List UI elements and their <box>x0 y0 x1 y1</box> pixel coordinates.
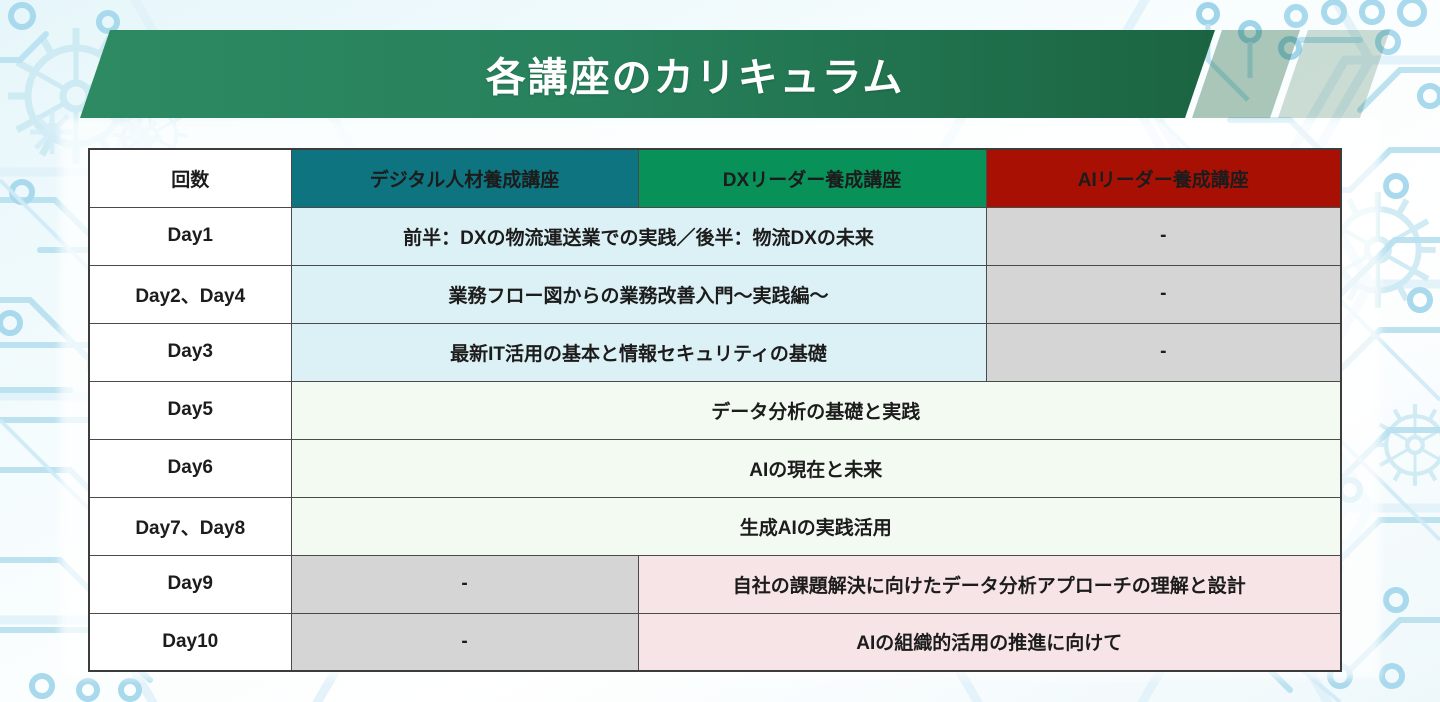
column-header-day: 回数 <box>89 149 291 207</box>
cell-course-content: 最新IT活用の基本と情報セキュリティの基礎 <box>291 323 986 381</box>
cell-not-applicable: - <box>291 613 638 671</box>
cell-not-applicable: - <box>986 265 1341 323</box>
cell-course-content: 業務フロー図からの業務改善入門〜実践編〜 <box>291 265 986 323</box>
row-day-label: Day1 <box>89 207 291 265</box>
table-row: Day3最新IT活用の基本と情報セキュリティの基礎- <box>89 323 1341 381</box>
table-body: Day1前半：DXの物流運送業での実践／後半：物流DXの未来-Day2、Day4… <box>89 207 1341 671</box>
cell-course-content: 自社の課題解決に向けたデータ分析アプローチの理解と設計 <box>638 555 1341 613</box>
table-row: Day1前半：DXの物流運送業での実践／後半：物流DXの未来- <box>89 207 1341 265</box>
row-day-label: Day7、Day8 <box>89 497 291 555</box>
slide-canvas: 各講座のカリキュラム 回数 デジタル人材養成講座 DXリーダー養成講座 AIリー… <box>0 0 1440 702</box>
cell-not-applicable: - <box>986 323 1341 381</box>
cell-not-applicable: - <box>291 555 638 613</box>
row-day-label: Day6 <box>89 439 291 497</box>
table-row: Day2、Day4業務フロー図からの業務改善入門〜実践編〜- <box>89 265 1341 323</box>
row-day-label: Day5 <box>89 381 291 439</box>
cell-course-content: 前半：DXの物流運送業での実践／後半：物流DXの未来 <box>291 207 986 265</box>
column-header-dx: DXリーダー養成講座 <box>638 149 986 207</box>
table-row: Day6AIの現在と未来 <box>89 439 1341 497</box>
row-day-label: Day3 <box>89 323 291 381</box>
row-day-label: Day10 <box>89 613 291 671</box>
row-day-label: Day2、Day4 <box>89 265 291 323</box>
table-row: Day5データ分析の基礎と実践 <box>89 381 1341 439</box>
cell-course-content: AIの組織的活用の推進に向けて <box>638 613 1341 671</box>
column-header-digital: デジタル人材養成講座 <box>291 149 638 207</box>
curriculum-table: 回数 デジタル人材養成講座 DXリーダー養成講座 AIリーダー養成講座 Day1… <box>88 148 1342 672</box>
table-row: Day7、Day8生成AIの実践活用 <box>89 497 1341 555</box>
cell-course-content: データ分析の基礎と実践 <box>291 381 1341 439</box>
cell-course-content: AIの現在と未来 <box>291 439 1341 497</box>
cell-course-content: 生成AIの実践活用 <box>291 497 1341 555</box>
row-day-label: Day9 <box>89 555 291 613</box>
table-row: Day9-自社の課題解決に向けたデータ分析アプローチの理解と設計 <box>89 555 1341 613</box>
table-header-row: 回数 デジタル人材養成講座 DXリーダー養成講座 AIリーダー養成講座 <box>89 149 1341 207</box>
table-header: 回数 デジタル人材養成講座 DXリーダー養成講座 AIリーダー養成講座 <box>89 149 1341 207</box>
page-title: 各講座のカリキュラム <box>0 30 1390 118</box>
column-header-ai: AIリーダー養成講座 <box>986 149 1341 207</box>
cell-not-applicable: - <box>986 207 1341 265</box>
table-row: Day10-AIの組織的活用の推進に向けて <box>89 613 1341 671</box>
